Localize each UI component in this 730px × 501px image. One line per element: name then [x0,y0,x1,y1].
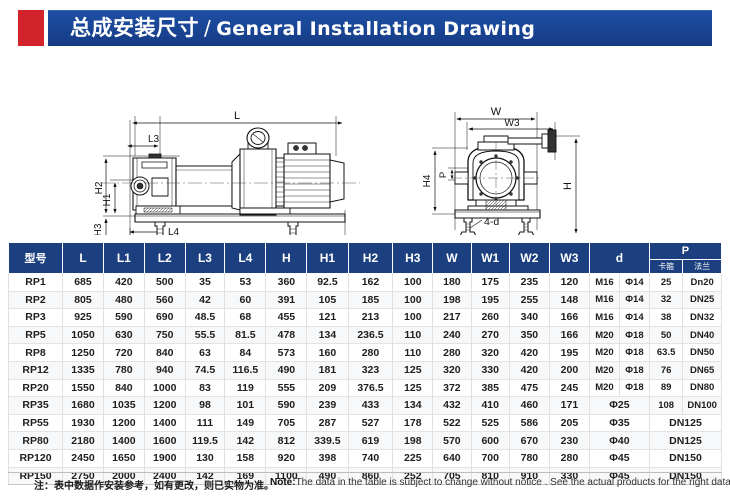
spec-table: 型号 L L1 L2 L3 L4 H H1 H2 H3 W W1 W2 W3 d… [8,242,722,485]
cell-H1: 239 [307,397,348,415]
th-H3: H3 [393,243,433,274]
cell-L2: 1000 [144,379,185,397]
th-W2: W2 [509,243,549,274]
cell-W: 372 [433,379,471,397]
table-row: RP35168010351200981015902394331344324104… [9,397,722,415]
cell-H2: 433 [348,397,393,415]
table-head: 型号 L L1 L2 L3 L4 H H1 H2 H3 W W1 W2 W3 d… [9,243,722,274]
cell-H3: 110 [393,326,433,344]
cell-L4: 53 [225,274,266,292]
cell-L: 925 [63,309,104,327]
cell-W2: 460 [509,397,549,415]
cell-L3: 119.5 [185,432,225,450]
cell-L4: 116.5 [225,361,266,379]
cell-H2: 527 [348,414,393,432]
cell-H2: 323 [348,361,393,379]
cell-L2: 750 [144,326,185,344]
cell-H2: 185 [348,291,393,309]
cell-p2: Dn20 [683,274,722,292]
cell-W2: 670 [509,432,549,450]
cell-H3: 125 [393,379,433,397]
th-L: L [63,243,104,274]
dim-label-W3: W3 [505,118,520,129]
table-row: RP5105063075055.581.5478134236.511024027… [9,326,722,344]
cell-model: RP3 [9,309,63,327]
cell-W2: 780 [509,449,549,467]
cell-p1: 25 [649,274,682,292]
cell-L: 1550 [63,379,104,397]
cell-W3: 200 [549,361,589,379]
cell-H2: 213 [348,309,393,327]
dim-label-H-front: H [562,182,574,190]
cell-W3: 280 [549,449,589,467]
cell-H: 478 [266,326,307,344]
note-english-label: Note: [270,477,296,488]
cell-L: 2450 [63,449,104,467]
dim-label-W1: W1 [488,234,505,235]
cell-L1: 720 [103,344,144,362]
cell-p: DN125 [649,432,721,450]
cell-L2: 1400 [144,414,185,432]
cell-W3: 166 [549,309,589,327]
cell-L1: 780 [103,361,144,379]
cell-H1: 287 [307,414,348,432]
cell-model: RP80 [9,432,63,450]
cell-H1: 209 [307,379,348,397]
drawing-svg: L L3 L4 L1 L2 H2 H1 H3 [0,50,730,235]
cell-W1: 270 [471,326,509,344]
cell-L1: 1035 [103,397,144,415]
cell-H: 705 [266,414,307,432]
cell-W2: 586 [509,414,549,432]
cell-H: 920 [266,449,307,467]
cell-W3: 120 [549,274,589,292]
table-row: RP12024501650190013015892039874022564070… [9,449,722,467]
cell-L4: 142 [225,432,266,450]
cell-L4: 101 [225,397,266,415]
th-L1: L1 [103,243,144,274]
th-W3: W3 [549,243,589,274]
dim-label-H4: H4 [422,174,433,187]
cell-p: DN150 [649,449,721,467]
cell-L3: 63 [185,344,225,362]
cell-L: 1050 [63,326,104,344]
cell-W1: 525 [471,414,509,432]
cell-W: 198 [433,291,471,309]
cell-H3: 100 [393,274,433,292]
cell-model: RP35 [9,397,63,415]
cell-L4: 60 [225,291,266,309]
page-title-separator: / [199,16,216,40]
table-row: RP81250720840638457316028011028032042019… [9,344,722,362]
cell-d1: M16 [589,309,619,327]
cell-L: 805 [63,291,104,309]
cell-L: 1930 [63,414,104,432]
cell-d1: M16 [589,274,619,292]
cell-d1: M16 [589,291,619,309]
cell-L4: 149 [225,414,266,432]
cell-H3: 125 [393,361,433,379]
cell-p2: DN25 [683,291,722,309]
cell-H3: 225 [393,449,433,467]
cell-p2: DN32 [683,309,722,327]
dim-label-W: W [491,106,502,118]
th-H: H [266,243,307,274]
cell-W3: 230 [549,432,589,450]
cell-p2: DN80 [683,379,722,397]
page-title-en: General Installation Drawing [216,18,535,40]
cell-W1: 175 [471,274,509,292]
cell-W: 522 [433,414,471,432]
cell-W1: 260 [471,309,509,327]
cell-H: 812 [266,432,307,450]
installation-drawing: L L3 L4 L1 L2 H2 H1 H3 [0,50,730,235]
cell-L3: 35 [185,274,225,292]
cell-H2: 619 [348,432,393,450]
footer-notes: 注：表中数据作安装参考，如有更改，则已实物为准。 Note:The data i… [8,472,722,493]
cell-H1: 121 [307,309,348,327]
table-row: RP28054805604260391105185100198195255148… [9,291,722,309]
cell-W: 280 [433,344,471,362]
note-english-text: The data in the table is subject to chan… [296,477,730,488]
cell-W: 217 [433,309,471,327]
th-W1: W1 [471,243,509,274]
cell-L2: 560 [144,291,185,309]
cell-H1: 105 [307,291,348,309]
cell-W3: 205 [549,414,589,432]
cell-L3: 42 [185,291,225,309]
cell-L2: 1600 [144,432,185,450]
cell-L4: 158 [225,449,266,467]
cell-H3: 198 [393,432,433,450]
cell-model: RP2 [9,291,63,309]
note-english: Note:The data in the table is subject to… [270,477,730,488]
cell-d1: M20 [589,361,619,379]
page-title-cn: 总成安装尺寸 [70,16,199,40]
cell-L3: 55.5 [185,326,225,344]
cell-W2: 420 [509,344,549,362]
cell-W3: 171 [549,397,589,415]
cell-H: 455 [266,309,307,327]
table-row: RP80218014001600119.5142812339.561919857… [9,432,722,450]
th-H2: H2 [348,243,393,274]
cell-model: RP1 [9,274,63,292]
cell-H: 573 [266,344,307,362]
cell-d: Φ25 [589,397,649,415]
cell-H: 391 [266,291,307,309]
cell-H2: 740 [348,449,393,467]
note-chinese: 注：表中数据作安装参考，如有更改，则已实物为准。 [34,477,274,492]
cell-H3: 100 [393,291,433,309]
cell-model: RP55 [9,414,63,432]
cell-W: 640 [433,449,471,467]
cell-H2: 162 [348,274,393,292]
cell-W: 320 [433,361,471,379]
cell-L2: 1900 [144,449,185,467]
cell-H1: 134 [307,326,348,344]
th-d: d [589,243,649,274]
cell-L1: 420 [103,274,144,292]
cell-W1: 195 [471,291,509,309]
table-body: RP1685420500355336092.516210018017523512… [9,274,722,485]
cell-L2: 500 [144,274,185,292]
dim-label-H3: H3 [93,223,104,235]
cell-H1: 181 [307,361,348,379]
cell-W1: 410 [471,397,509,415]
cell-d2: Φ18 [619,379,649,397]
th-model: 型号 [9,243,63,274]
cell-W1: 320 [471,344,509,362]
cell-H2: 376.5 [348,379,393,397]
cell-p2: DN100 [683,397,722,415]
cell-model: RP5 [9,326,63,344]
cell-d1: M20 [589,344,619,362]
th-L3: L3 [185,243,225,274]
cell-d: Φ40 [589,432,649,450]
dim-label-L3: L3 [148,134,160,145]
th-L4: L4 [225,243,266,274]
dim-label-L: L [234,110,240,122]
cell-H1: 160 [307,344,348,362]
cell-W2: 340 [509,309,549,327]
cell-L4: 119 [225,379,266,397]
page-header: 总成安装尺寸/General Installation Drawing [18,10,712,46]
cell-H2: 280 [348,344,393,362]
cell-L: 2180 [63,432,104,450]
dim-label-L4: L4 [168,227,180,235]
cell-L4: 68 [225,309,266,327]
cell-L4: 81.5 [225,326,266,344]
cell-W: 180 [433,274,471,292]
table-row: RP1685420500355336092.516210018017523512… [9,274,722,292]
cell-W2: 255 [509,291,549,309]
cell-H1: 339.5 [307,432,348,450]
cell-H3: 178 [393,414,433,432]
header-accent-block [18,10,44,46]
cell-W3: 166 [549,326,589,344]
cell-p: DN125 [649,414,721,432]
cell-L1: 590 [103,309,144,327]
cell-L4: 84 [225,344,266,362]
cell-H3: 134 [393,397,433,415]
cell-p1: 32 [649,291,682,309]
cell-d2: Φ14 [619,274,649,292]
cell-model: RP20 [9,379,63,397]
cell-H: 590 [266,397,307,415]
cell-model: RP12 [9,361,63,379]
cell-L3: 130 [185,449,225,467]
cell-model: RP8 [9,344,63,362]
table-row: RP12133578094074.5116.549018132312532033… [9,361,722,379]
cell-L2: 1200 [144,397,185,415]
table-header-row-1: 型号 L L1 L2 L3 L4 H H1 H2 H3 W W1 W2 W3 d… [9,243,722,260]
cell-W2: 420 [509,361,549,379]
cell-L3: 74.5 [185,361,225,379]
cell-d2: Φ18 [619,344,649,362]
cell-p1: 108 [649,397,682,415]
cell-W: 432 [433,397,471,415]
cell-d2: Φ14 [619,291,649,309]
cell-W3: 195 [549,344,589,362]
cell-L: 1250 [63,344,104,362]
cell-H: 490 [266,361,307,379]
cell-W1: 600 [471,432,509,450]
cell-W: 570 [433,432,471,450]
cell-L: 1335 [63,361,104,379]
cell-L2: 690 [144,309,185,327]
cell-L2: 940 [144,361,185,379]
cell-H1: 398 [307,449,348,467]
page-title: 总成安装尺寸/General Installation Drawing [70,10,535,46]
th-H1: H1 [307,243,348,274]
cell-L1: 1650 [103,449,144,467]
cell-d2: Φ18 [619,361,649,379]
cell-model: RP120 [9,449,63,467]
specifications-table: 型号 L L1 L2 L3 L4 H H1 H2 H3 W W1 W2 W3 d… [8,242,722,485]
cell-W1: 700 [471,449,509,467]
cell-W2: 350 [509,326,549,344]
cell-d: Φ45 [589,449,649,467]
dim-label-P: P [438,172,449,178]
th-P-clamp: 卡箍 [649,259,682,273]
cell-W2: 475 [509,379,549,397]
cell-W1: 385 [471,379,509,397]
th-P-flange: 法兰 [683,259,722,273]
cell-p1: 76 [649,361,682,379]
cell-p1: 89 [649,379,682,397]
cell-L1: 630 [103,326,144,344]
cell-L1: 1400 [103,432,144,450]
dim-label-H1: H1 [102,193,113,206]
cell-L: 685 [63,274,104,292]
cell-L1: 840 [103,379,144,397]
cell-d2: Φ18 [619,326,649,344]
cell-W3: 245 [549,379,589,397]
cell-d2: Φ14 [619,309,649,327]
cell-L1: 480 [103,291,144,309]
cell-L3: 83 [185,379,225,397]
table-row: RP392559069048.5684551212131002172603401… [9,309,722,327]
cell-d1: M20 [589,326,619,344]
th-L2: L2 [144,243,185,274]
cell-W2: 235 [509,274,549,292]
cell-L3: 48.5 [185,309,225,327]
cell-p2: DN50 [683,344,722,362]
cell-W: 240 [433,326,471,344]
cell-p2: DN40 [683,326,722,344]
table-row: RP55193012001400111149705287527178522525… [9,414,722,432]
cell-p1: 50 [649,326,682,344]
cell-W3: 148 [549,291,589,309]
cell-d: Φ35 [589,414,649,432]
table-row: RP201550840100083119555209376.5125372385… [9,379,722,397]
cell-L3: 111 [185,414,225,432]
th-W: W [433,243,471,274]
cell-H: 360 [266,274,307,292]
cell-L: 1680 [63,397,104,415]
cell-p1: 63.5 [649,344,682,362]
th-P: P [649,243,721,260]
cell-W1: 330 [471,361,509,379]
cell-H2: 236.5 [348,326,393,344]
cell-L3: 98 [185,397,225,415]
cell-H3: 100 [393,309,433,327]
cell-p1: 38 [649,309,682,327]
cell-H1: 92.5 [307,274,348,292]
cell-L2: 840 [144,344,185,362]
cell-d1: M20 [589,379,619,397]
cell-L1: 1200 [103,414,144,432]
cell-H: 555 [266,379,307,397]
cell-H3: 110 [393,344,433,362]
cell-p2: DN65 [683,361,722,379]
